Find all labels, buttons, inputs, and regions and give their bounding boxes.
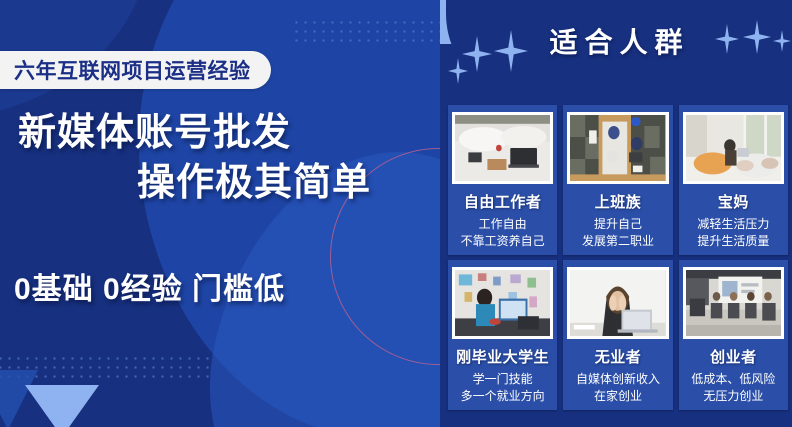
audience-card-desc-line-1: 自媒体创新收入 bbox=[576, 371, 660, 388]
audience-card-desc: 提升自己 发展第二职业 bbox=[582, 216, 654, 249]
audience-card-title: 上班族 bbox=[595, 191, 642, 212]
stressed-woman-laptop-photo bbox=[567, 267, 668, 339]
audience-card-title: 无业者 bbox=[595, 346, 642, 367]
audience-card[interactable]: 上班族 提升自己 发展第二职业 bbox=[563, 105, 672, 255]
office-desk-topview-photo bbox=[567, 112, 668, 184]
audience-card-desc: 自媒体创新收入 在家创业 bbox=[576, 371, 660, 404]
dot-grid-top-icon bbox=[292, 18, 452, 47]
audience-card-desc-line-2: 发展第二职业 bbox=[582, 233, 654, 250]
audience-card-desc-line-2: 提升生活质量 bbox=[697, 233, 769, 250]
audience-card-title: 刚毕业大学生 bbox=[456, 346, 549, 367]
audience-card-desc-line-1: 减轻生活压力 bbox=[697, 216, 769, 233]
headline-line-1: 新媒体账号批发 bbox=[18, 112, 291, 154]
audience-card-desc-line-2: 在家创业 bbox=[576, 388, 660, 405]
audience-card-desc-line-2: 多一个就业方向 bbox=[461, 388, 545, 405]
headline-line-2: 操作极其简单 bbox=[18, 158, 438, 208]
experience-badge-label: 六年互联网项目运营经验 bbox=[14, 55, 251, 85]
mother-child-bed-photo bbox=[683, 112, 784, 184]
right-panel: 适合人群 bbox=[440, 0, 792, 427]
audience-card[interactable]: 宝妈 减轻生活压力 提升生活质量 bbox=[679, 105, 788, 255]
audience-card-desc-line-1: 提升自己 bbox=[582, 216, 654, 233]
experience-badge: 六年互联网项目运营经验 bbox=[0, 51, 271, 89]
audience-card-desc: 工作自由 不靠工资养自己 bbox=[461, 216, 545, 249]
audience-card-desc-line-1: 低成本、低风险 bbox=[691, 371, 775, 388]
bed-laptop-photo bbox=[452, 112, 553, 184]
audience-card[interactable]: 自由工作者 工作自由 不靠工资养自己 bbox=[448, 105, 557, 255]
audience-card[interactable]: 创业者 低成本、低风险 无压力创业 bbox=[679, 260, 788, 410]
audience-card[interactable]: 无业者 自媒体创新收入 在家创业 bbox=[563, 260, 672, 410]
student-desk-photo bbox=[452, 267, 553, 339]
headline: 新媒体账号批发 操作极其简单 bbox=[18, 108, 438, 208]
audience-card-desc-line-1: 工作自由 bbox=[461, 216, 545, 233]
audience-card[interactable]: 刚毕业大学生 学一门技能 多一个就业方向 bbox=[448, 260, 557, 410]
decorative-triangle-light bbox=[25, 385, 99, 427]
audience-card-desc-line-1: 学一门技能 bbox=[461, 371, 545, 388]
audience-card-desc: 低成本、低风险 无压力创业 bbox=[691, 371, 775, 404]
section-title: 适合人群 bbox=[440, 21, 792, 61]
audience-card-title: 自由工作者 bbox=[464, 191, 542, 212]
audience-card-desc: 减轻生活压力 提升生活质量 bbox=[697, 216, 769, 249]
audience-card-title: 创业者 bbox=[710, 346, 757, 367]
poster-canvas: 六年互联网项目运营经验 新媒体账号批发 操作极其简单 0基础 0经验 门槛低 适… bbox=[0, 0, 792, 427]
audience-card-desc: 学一门技能 多一个就业方向 bbox=[461, 371, 545, 404]
audience-card-desc-line-2: 无压力创业 bbox=[691, 388, 775, 405]
subline: 0基础 0经验 门槛低 bbox=[14, 264, 285, 308]
audience-card-title: 宝妈 bbox=[718, 191, 749, 212]
audience-card-desc-line-2: 不靠工资养自己 bbox=[461, 233, 545, 250]
audience-card-grid: 自由工作者 工作自由 不靠工资养自己 bbox=[448, 105, 788, 410]
left-panel: 六年互联网项目运营经验 新媒体账号批发 操作极其简单 0基础 0经验 门槛低 bbox=[0, 0, 452, 427]
classroom-presentation-photo bbox=[683, 267, 784, 339]
